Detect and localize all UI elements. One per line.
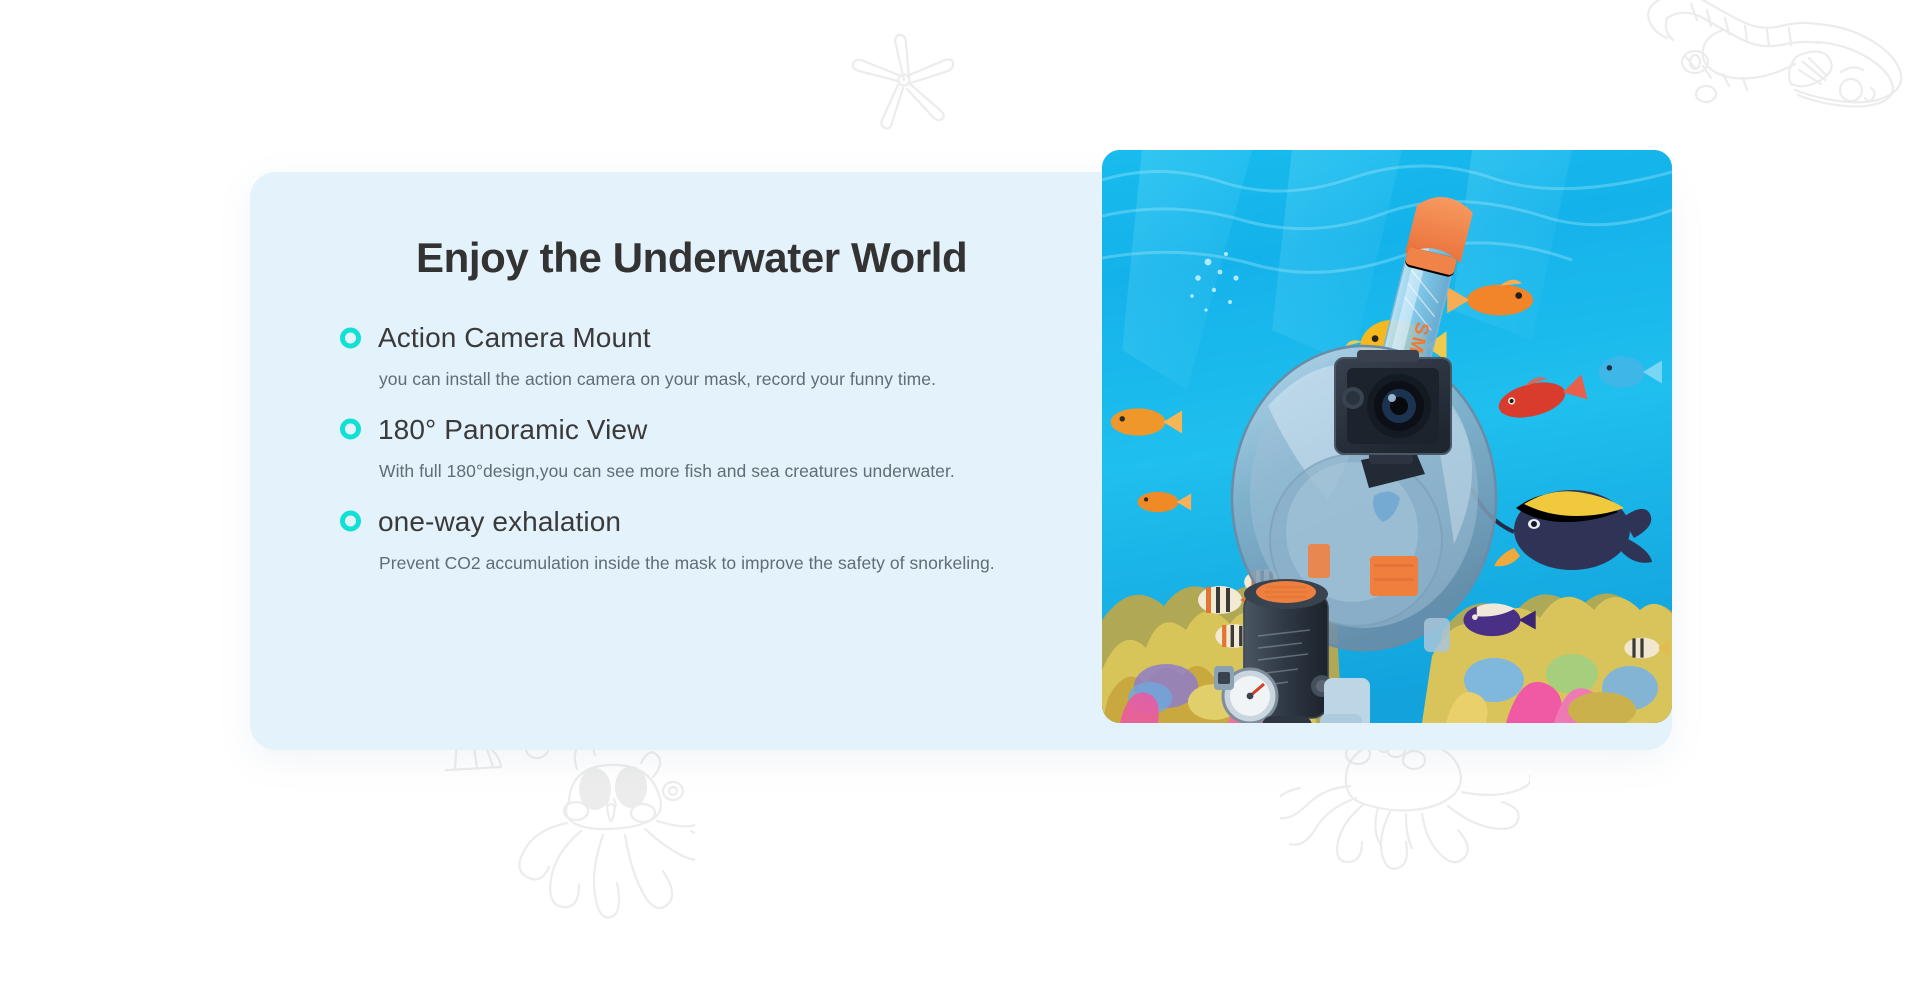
eel-doodle	[1645, 0, 1920, 127]
octopus-doodle	[1280, 742, 1530, 872]
page-title: Enjoy the Underwater World	[416, 235, 1036, 281]
feature-item-panoramic-view: 180° Panoramic View With full 180°design…	[297, 412, 1037, 484]
squid-doodle	[445, 735, 695, 935]
product-image: Full-face snorkel mask with action camer…	[1102, 150, 1672, 723]
ring-bullet-icon	[340, 511, 361, 532]
starfish-doodle	[845, 25, 965, 130]
feature-title: 180° Panoramic View	[378, 412, 647, 447]
feature-title: one-way exhalation	[378, 504, 621, 539]
product-image-alt: Full-face snorkel mask with action camer…	[1102, 150, 1103, 151]
feature-description: Prevent CO2 accumulation inside the mask…	[379, 551, 999, 576]
feature-list: Action Camera Mount you can install the …	[297, 320, 1037, 576]
ring-bullet-icon	[340, 327, 361, 348]
feature-heading: 180° Panoramic View	[297, 412, 1037, 447]
feature-item-one-way-exhalation: one-way exhalation Prevent CO2 accumulat…	[297, 504, 1037, 576]
page-root: Enjoy the Underwater World Action Camera…	[0, 0, 1920, 1003]
feature-description: you can install the action camera on you…	[379, 367, 999, 392]
feature-card: Enjoy the Underwater World Action Camera…	[250, 172, 1672, 750]
card-text-column: Enjoy the Underwater World Action Camera…	[297, 172, 1037, 750]
feature-heading: Action Camera Mount	[297, 320, 1037, 355]
feature-item-action-camera-mount: Action Camera Mount you can install the …	[297, 320, 1037, 392]
feature-description: With full 180°design,you can see more fi…	[379, 459, 999, 484]
feature-heading: one-way exhalation	[297, 504, 1037, 539]
feature-title: Action Camera Mount	[378, 320, 651, 355]
ring-bullet-icon	[340, 419, 361, 440]
